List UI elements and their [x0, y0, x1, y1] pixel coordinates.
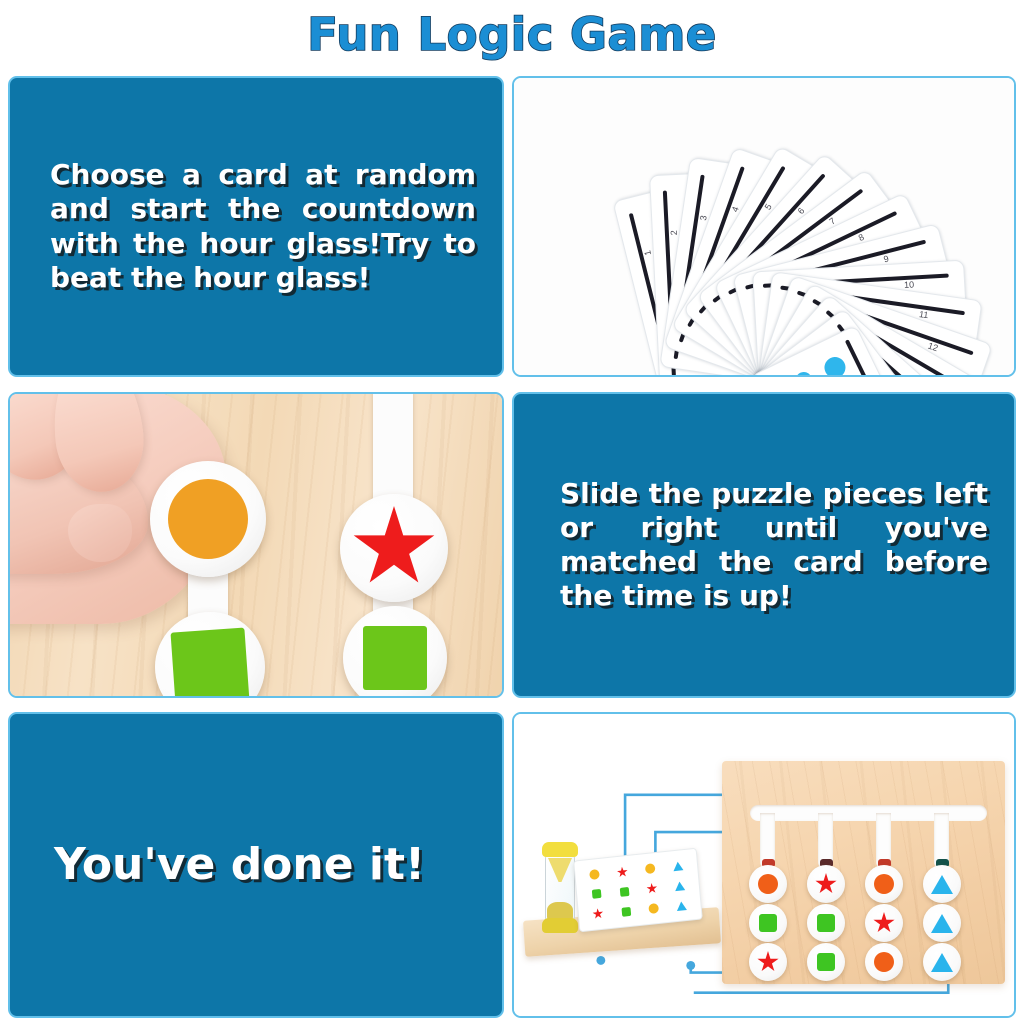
star-red-icon	[873, 912, 895, 934]
square-green-icon	[817, 914, 835, 932]
circle-orange-icon	[758, 874, 778, 894]
step-3-photo-panel: Hourglass timer, pattern card on a woode…	[512, 712, 1016, 1018]
card-number: 9	[883, 253, 890, 264]
left-piece-top-disc[interactable]	[150, 461, 266, 577]
ref-card-col-4	[663, 854, 696, 917]
step-1-text-panel: Choose a card at random and start the co…	[8, 76, 504, 377]
green-square-icon-2	[363, 626, 427, 690]
board-piece-c4-r3[interactable]	[923, 943, 961, 981]
thumb-nail	[68, 504, 132, 562]
step-3-success-text: You've done it!	[10, 838, 451, 892]
card-fan-photo: 12345678910111213141516 Fan of numbered …	[514, 78, 1014, 375]
board-piece-c3-r2[interactable]	[865, 904, 903, 942]
orange-circle-icon	[168, 479, 248, 559]
hourglass-cap-top	[542, 842, 578, 857]
promo-image: Fun Logic Game Choose a card at random a…	[0, 0, 1024, 1027]
board-solution-photo: Hourglass timer, pattern card on a woode…	[514, 714, 1014, 1016]
hourglass-timer[interactable]	[540, 842, 580, 930]
board-piece-c1-r3[interactable]	[749, 943, 787, 981]
square-green-icon	[759, 914, 777, 932]
square-green-icon	[619, 887, 629, 897]
circle-yellow-icon	[648, 903, 659, 914]
right-piece-top-disc[interactable]	[340, 494, 448, 602]
star-red-icon	[757, 951, 779, 973]
page-title-text: Fun Logic Game	[307, 8, 717, 61]
hand-sliding-photo: A hand sliding a white puzzle piece with…	[10, 394, 502, 696]
board-piece-c2-r3[interactable]	[807, 943, 845, 981]
triangle-blue-icon	[931, 914, 953, 933]
card-number: 10	[904, 279, 915, 290]
page-title: Fun Logic Game	[0, 0, 1024, 68]
board-piece-c3-r3[interactable]	[865, 943, 903, 981]
board-piece-c1-r2[interactable]	[749, 904, 787, 942]
board-piece-c4-r1[interactable]	[923, 865, 961, 903]
reference-card[interactable]	[573, 848, 703, 933]
triangle-blue-icon	[673, 861, 684, 871]
step-3-text-panel: You've done it!	[8, 712, 504, 1018]
square-green-icon	[591, 889, 601, 899]
card-number: 2	[669, 230, 679, 235]
star-red-icon	[592, 908, 604, 920]
star-red-icon	[646, 882, 658, 894]
triangle-blue-icon	[676, 901, 687, 911]
board-piece-c3-r1[interactable]	[865, 865, 903, 903]
board-piece-c4-r2[interactable]	[923, 904, 961, 942]
square-green-icon	[817, 953, 835, 971]
star-red-icon	[815, 873, 837, 895]
triangle-blue-icon	[931, 953, 953, 972]
hourglass-cap-bottom	[542, 918, 578, 933]
step-2-instruction-text: Slide the puzzle pieces left or right un…	[514, 477, 1014, 614]
board-piece-c2-r1[interactable]	[807, 865, 845, 903]
board-piece-c2-r2[interactable]	[807, 904, 845, 942]
step-2-photo-panel: A hand sliding a white puzzle piece with…	[8, 392, 504, 698]
board-piece-c1-r1[interactable]	[749, 865, 787, 903]
circle-orange-icon	[874, 874, 894, 894]
step-2-text-panel: Slide the puzzle pieces left or right un…	[512, 392, 1016, 698]
triangle-blue-icon	[674, 881, 685, 891]
red-star-icon	[352, 506, 436, 590]
circle-yellow-icon	[645, 863, 656, 874]
circle-yellow-icon	[589, 869, 600, 880]
card-number: 1	[642, 249, 653, 256]
step-1-instruction-text: Choose a card at random and start the co…	[10, 158, 502, 295]
card-edge-dot	[821, 353, 849, 377]
green-square-icon	[171, 628, 250, 696]
step-1-photo-panel: 12345678910111213141516 Fan of numbered …	[512, 76, 1016, 377]
wooden-board	[722, 761, 1005, 984]
card-edge-dot	[793, 369, 814, 377]
triangle-blue-icon	[931, 875, 953, 894]
star-red-icon	[616, 866, 628, 878]
square-green-icon	[621, 907, 631, 917]
board-horizontal-track	[750, 805, 987, 821]
circle-orange-icon	[874, 952, 894, 972]
